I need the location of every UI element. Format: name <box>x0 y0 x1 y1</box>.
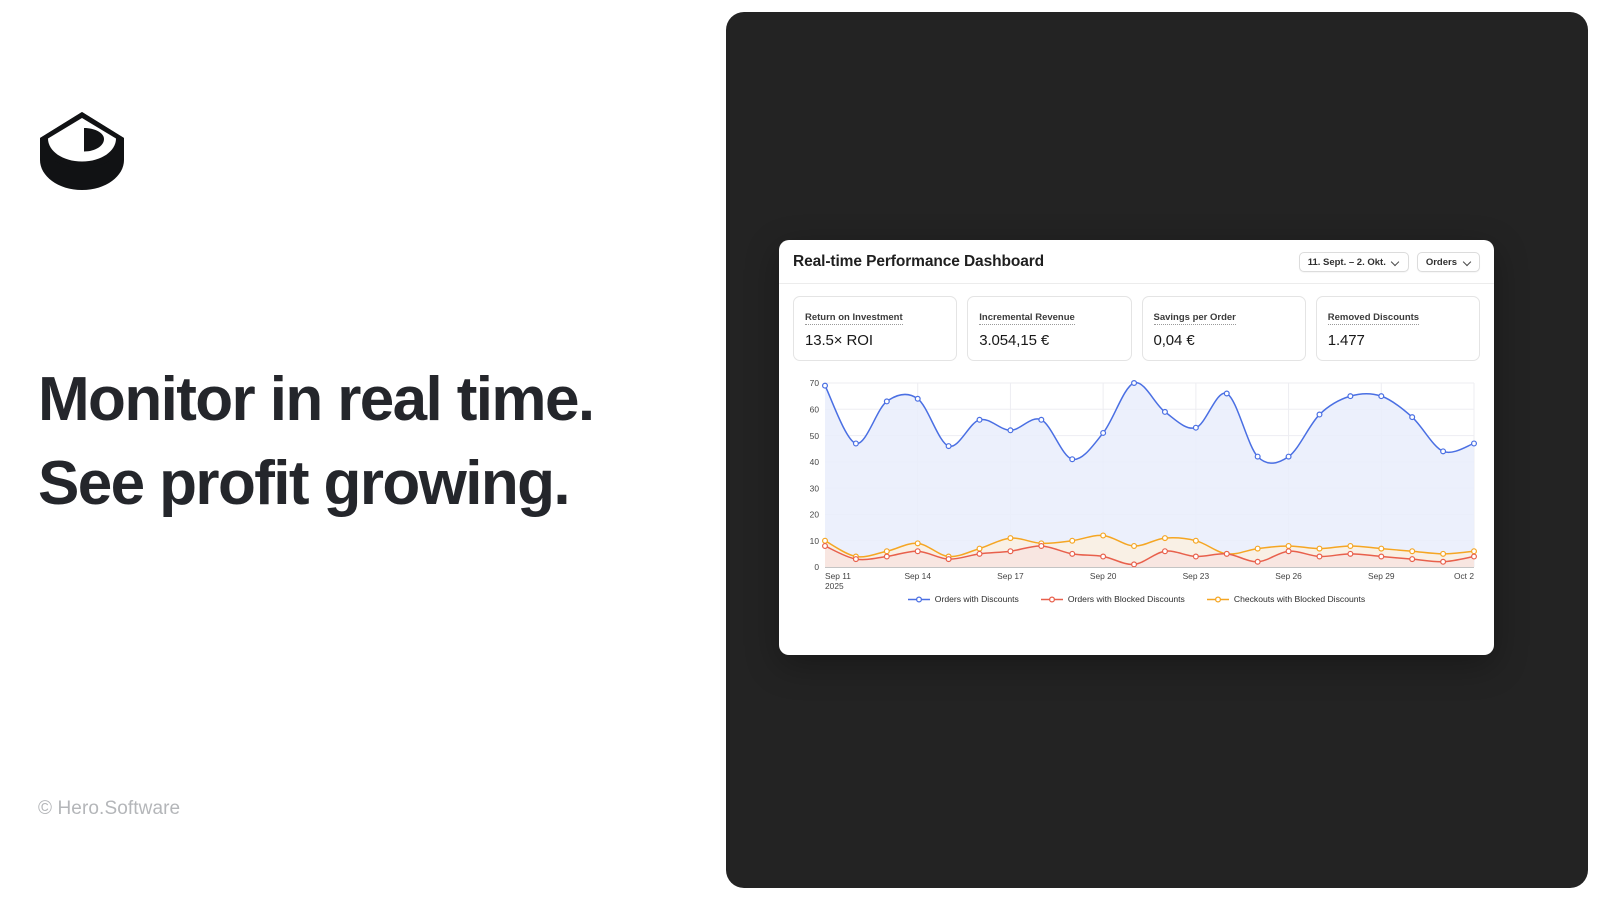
kpi-value: 0,04 € <box>1154 332 1294 349</box>
svg-text:60: 60 <box>810 404 820 414</box>
svg-text:Oct 2: Oct 2 <box>1454 571 1474 581</box>
svg-text:Sep 29: Sep 29 <box>1368 571 1395 581</box>
headline-line-1: Monitor in real time. <box>38 358 678 442</box>
dashboard-card: Real-time Performance Dashboard 11. Sept… <box>779 240 1494 655</box>
svg-text:Sep 14: Sep 14 <box>904 571 931 581</box>
svg-text:10: 10 <box>810 536 820 546</box>
kpi-value: 13.5× ROI <box>805 332 945 349</box>
svg-text:0: 0 <box>814 562 819 572</box>
copyright-footer: © Hero.Software <box>38 798 180 820</box>
legend-label: Checkouts with Blocked Discounts <box>1234 594 1365 604</box>
hero-software-logo <box>38 108 126 194</box>
dashboard-header: Real-time Performance Dashboard 11. Sept… <box>779 240 1494 284</box>
kpi-label: Return on Investment <box>805 312 903 325</box>
performance-line-chart: 010203040506070Sep 112025Sep 14Sep 17Sep… <box>791 375 1482 593</box>
kpi-card-savings-per-order: Savings per Order 0,04 € <box>1142 296 1306 361</box>
dashboard-controls: 11. Sept. – 2. Okt. Orders <box>1299 252 1480 272</box>
date-range-label: 11. Sept. – 2. Okt. <box>1308 257 1386 268</box>
kpi-label: Removed Discounts <box>1328 312 1419 325</box>
legend-item[interactable]: Orders with Discounts <box>908 594 1019 604</box>
kpi-row: Return on Investment 13.5× ROI Increment… <box>779 284 1494 365</box>
left-panel: Monitor in real time. See profit growing… <box>0 0 726 900</box>
svg-text:2025: 2025 <box>825 581 844 591</box>
svg-text:Sep 20: Sep 20 <box>1090 571 1117 581</box>
chevron-down-icon <box>1463 258 1471 266</box>
svg-text:20: 20 <box>810 510 820 520</box>
svg-text:Sep 17: Sep 17 <box>997 571 1024 581</box>
svg-text:70: 70 <box>810 378 820 388</box>
kpi-card-removed-discounts: Removed Discounts 1.477 <box>1316 296 1480 361</box>
svg-text:50: 50 <box>810 431 820 441</box>
promo-page: Monitor in real time. See profit growing… <box>0 0 1600 900</box>
kpi-value: 3.054,15 € <box>979 332 1119 349</box>
svg-text:40: 40 <box>810 457 820 467</box>
kpi-card-roi: Return on Investment 13.5× ROI <box>793 296 957 361</box>
legend-item[interactable]: Checkouts with Blocked Discounts <box>1207 594 1365 604</box>
page-title: Monitor in real time. See profit growing… <box>38 358 678 526</box>
svg-text:Sep 23: Sep 23 <box>1183 571 1210 581</box>
legend-item[interactable]: Orders with Blocked Discounts <box>1041 594 1185 604</box>
legend-label: Orders with Discounts <box>935 594 1019 604</box>
kpi-label: Savings per Order <box>1154 312 1236 325</box>
chevron-down-icon <box>1392 258 1400 266</box>
legend-marker-icon <box>908 595 930 604</box>
dashboard-title: Real-time Performance Dashboard <box>793 253 1044 271</box>
legend-marker-icon <box>1041 595 1063 604</box>
kpi-label: Incremental Revenue <box>979 312 1075 325</box>
kpi-value: 1.477 <box>1328 332 1468 349</box>
svg-text:30: 30 <box>810 483 820 493</box>
headline-line-2: See profit growing. <box>38 442 678 526</box>
dark-stage: Real-time Performance Dashboard 11. Sept… <box>726 12 1588 888</box>
date-range-dropdown[interactable]: 11. Sept. – 2. Okt. <box>1299 252 1409 272</box>
chart-area: 010203040506070Sep 112025Sep 14Sep 17Sep… <box>779 365 1494 655</box>
metric-dropdown[interactable]: Orders <box>1417 252 1480 272</box>
metric-label: Orders <box>1426 257 1457 268</box>
legend-label: Orders with Blocked Discounts <box>1068 594 1185 604</box>
svg-text:Sep 11: Sep 11 <box>825 571 851 581</box>
kpi-card-incremental-revenue: Incremental Revenue 3.054,15 € <box>967 296 1131 361</box>
right-panel: Real-time Performance Dashboard 11. Sept… <box>726 0 1600 900</box>
legend-marker-icon <box>1207 595 1229 604</box>
chart-legend: Orders with DiscountsOrders with Blocked… <box>791 593 1482 612</box>
svg-text:Sep 26: Sep 26 <box>1275 571 1302 581</box>
